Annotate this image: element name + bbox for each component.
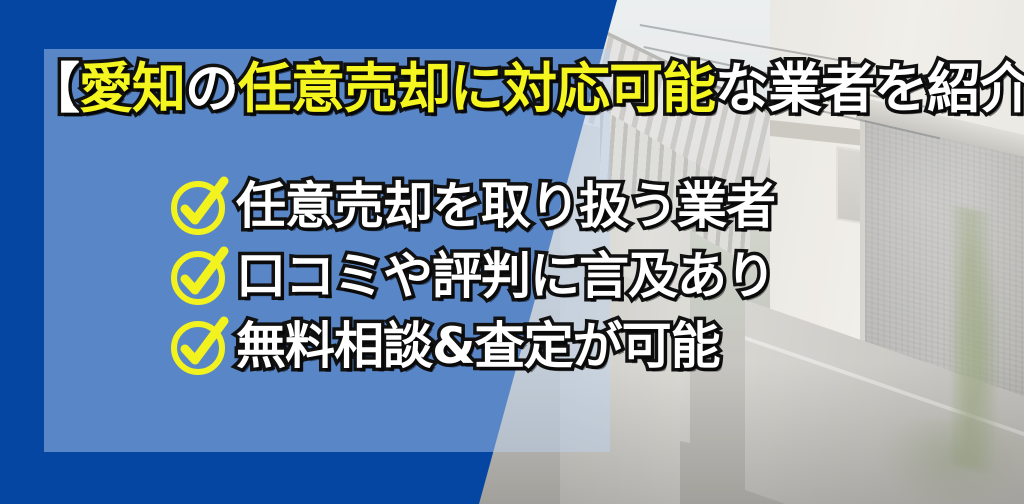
headline-segment-service: 任意売却に対応可能 (238, 57, 715, 120)
headline-segment-open-bracket: 【 (26, 57, 79, 120)
list-item-label: 口コミや評判に言及あり (236, 251, 775, 301)
circled-check-icon (168, 245, 230, 307)
page-title: 【愛知の任意売却に対応可能な業者を紹介】 (26, 62, 1006, 116)
headline-segment-region: 愛知 (79, 57, 185, 120)
list-item: 口コミや評判に言及あり (168, 242, 1008, 310)
list-item: 任意売却を取り扱う業者 (168, 172, 1008, 240)
headline-segment-particle: の (185, 57, 238, 120)
list-item-label: 任意売却を取り扱う業者 (236, 181, 775, 231)
circled-check-icon (168, 175, 230, 237)
circled-check-icon (168, 315, 230, 377)
feature-list: 任意売却を取り扱う業者 口コミや評判に言及あり 無料相談&査定が可能 (168, 172, 1008, 382)
banner: 【愛知の任意売却に対応可能な業者を紹介】 任意売却を取り扱う業者 口コミや評判に… (0, 0, 1024, 504)
list-item-label: 無料相談&査定が可能 (236, 321, 720, 371)
list-item: 無料相談&査定が可能 (168, 312, 1008, 380)
photo-grass (880, 420, 1024, 504)
headline-segment-tail: な業者を紹介】 (715, 57, 1024, 120)
